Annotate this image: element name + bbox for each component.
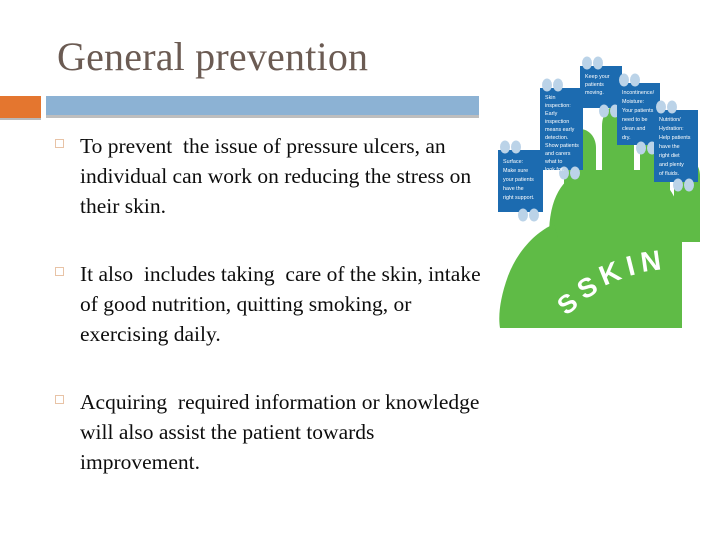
title-decoration-bar	[0, 96, 479, 118]
slide-canvas: General prevention To prevent the issue …	[0, 0, 720, 540]
square-bullet-icon	[55, 139, 64, 148]
callout-nutrition-hydration: Nutrition/ Hydration: Help patients have…	[654, 101, 698, 192]
decoration-blue-shadow	[46, 115, 479, 118]
square-bullet-icon	[55, 395, 64, 404]
palm-letter: N	[639, 244, 663, 278]
list-item-text: To prevent the issue of pressure ulcers,…	[80, 131, 482, 221]
callout-incontinence-moisture: Incontinence/ Moisture: Your patients ne…	[617, 74, 660, 155]
list-item: Acquiring required information or knowle…	[52, 387, 482, 477]
decoration-orange-shadow	[0, 118, 41, 120]
content-bullet-list: To prevent the issue of pressure ulcers,…	[52, 131, 482, 477]
list-item-text: Acquiring required information or knowle…	[80, 387, 482, 477]
page-title: General prevention	[57, 33, 487, 81]
list-item-text: It also includes taking care of the skin…	[80, 259, 482, 349]
decoration-blue-bar	[46, 96, 479, 115]
list-item: It also includes taking care of the skin…	[52, 259, 482, 349]
callout-keep-moving: Keep your patients moving.	[580, 57, 622, 118]
decoration-orange-block	[0, 96, 41, 118]
list-item: To prevent the issue of pressure ulcers,…	[52, 131, 482, 221]
callout-surface: Surface: Make sure your patients have th…	[498, 141, 543, 222]
sskin-hand-image: S S K I N Surface: Make sure	[492, 28, 720, 328]
square-bullet-icon	[55, 267, 64, 276]
callout-skin-inspection: Skin inspection: Early inspection means …	[540, 79, 583, 180]
